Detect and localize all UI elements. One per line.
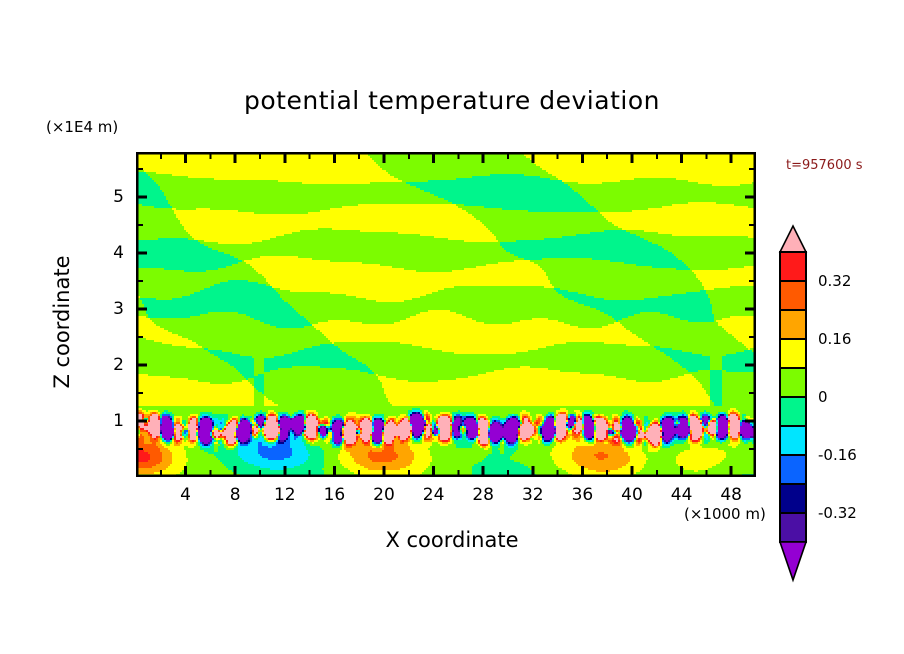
colorbar-over-arrow bbox=[780, 226, 806, 252]
colorbar-under-arrow bbox=[780, 542, 806, 580]
colorbar-tick-label: 0 bbox=[818, 388, 828, 406]
y-axis-title: Z coordinate bbox=[50, 222, 74, 422]
x-tick-label: 48 bbox=[720, 485, 742, 505]
colorbar-band-navy bbox=[780, 484, 806, 513]
contour-field bbox=[136, 152, 756, 477]
colorbar-band-chartreuse bbox=[780, 368, 806, 397]
x-tick-label: 28 bbox=[472, 485, 494, 505]
y-axis-unit-label: (×1E4 m) bbox=[46, 118, 118, 136]
x-tick-label: 24 bbox=[423, 485, 445, 505]
x-tick-label: 4 bbox=[180, 485, 191, 505]
x-tick-label: 32 bbox=[522, 485, 544, 505]
colorbar-band-violet bbox=[780, 513, 806, 542]
contour-plot bbox=[136, 152, 756, 477]
x-axis-unit-label: (×1000 m) bbox=[684, 505, 766, 523]
figure-canvas: potential temperature deviation (×1E4 m)… bbox=[0, 0, 904, 654]
y-tick-label: 2 bbox=[113, 355, 124, 375]
x-tick-label: 20 bbox=[373, 485, 395, 505]
x-tick-label: 36 bbox=[572, 485, 594, 505]
colorbar-tick-label: -0.32 bbox=[818, 504, 857, 522]
colorbar-tick-label: 0.16 bbox=[818, 330, 851, 348]
timestamp-annotation: t=957600 s bbox=[786, 158, 863, 173]
chart-title: potential temperature deviation bbox=[0, 86, 904, 115]
colorbar-band-orange-red bbox=[780, 281, 806, 310]
colorbar-band-red bbox=[780, 252, 806, 281]
colorbar-tick-label: -0.16 bbox=[818, 446, 857, 464]
colorbar-band-cyan bbox=[780, 426, 806, 455]
colorbar-tick-label: 0.32 bbox=[818, 272, 851, 290]
colorbar bbox=[778, 224, 808, 584]
x-tick-label: 8 bbox=[230, 485, 241, 505]
y-tick-label: 4 bbox=[113, 243, 124, 263]
x-tick-label: 12 bbox=[274, 485, 296, 505]
colorbar-band-spring-green bbox=[780, 397, 806, 426]
colorbar-band-blue bbox=[780, 455, 806, 484]
colorbar-band-orange bbox=[780, 310, 806, 339]
y-tick-label: 5 bbox=[113, 187, 124, 207]
colorbar-band-yellow bbox=[780, 339, 806, 368]
x-tick-label: 44 bbox=[671, 485, 693, 505]
x-tick-label: 16 bbox=[324, 485, 346, 505]
y-tick-label: 3 bbox=[113, 299, 124, 319]
x-tick-label: 40 bbox=[621, 485, 643, 505]
x-axis-title: X coordinate bbox=[0, 528, 904, 552]
y-tick-label: 1 bbox=[113, 411, 124, 431]
